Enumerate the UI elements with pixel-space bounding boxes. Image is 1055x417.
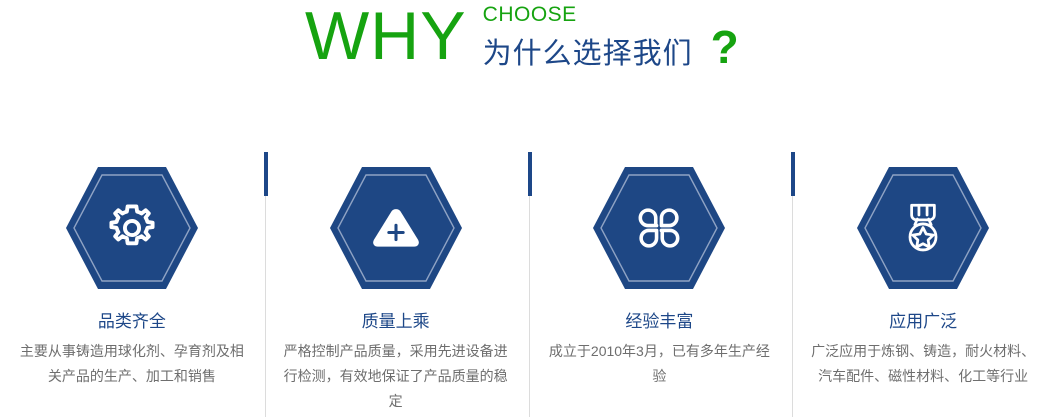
hex-badge-2 [328,165,464,291]
card-title: 品类齐全 [98,311,166,333]
hex-badge-4 [855,165,991,291]
triangle-plus-icon [328,165,464,291]
card-title: 应用广泛 [889,311,957,333]
card-description: 主要从事铸造用球化剂、孕育剂及相关产品的生产、加工和销售 [19,339,244,389]
divider-grey-segment [529,196,530,417]
card-description: 严格控制产品质量，采用先进设备进行检测，有效地保证了产品质量的稳定 [283,339,508,414]
header-subtitle-cn: 为什么选择我们 [483,36,693,72]
divider-grey-segment [265,196,266,417]
feature-card-2: 质量上乘 严格控制产品质量，采用先进设备进行检测，有效地保证了产品质量的稳定 [264,140,528,416]
header-choose-word: CHOOSE [483,3,739,27]
column-divider [528,152,532,417]
section-header: WHY CHOOSE 为什么选择我们 ? [0,0,1055,95]
divider-grey-segment [792,196,793,417]
card-description: 成立于2010年3月，已有多年生产经验 [547,339,772,389]
header-text-stack: CHOOSE 为什么选择我们 ? [483,0,739,72]
feature-columns: 品类齐全 主要从事铸造用球化剂、孕育剂及相关产品的生产、加工和销售 [0,140,1055,416]
card-title: 质量上乘 [362,311,430,333]
header-subtitle-row: 为什么选择我们 ? [483,29,739,72]
divider-blue-segment [264,152,268,196]
header-title-group: WHY CHOOSE 为什么选择我们 ? [305,0,739,72]
feature-card-4: 应用广泛 广泛应用于炼钢、铸造，耐火材料、汽车配件、磁性材料、化工等行业 [791,140,1055,416]
divider-blue-segment [528,152,532,196]
gear-icon [64,165,200,291]
header-why-word: WHY [305,0,467,72]
header-question-mark: ? [711,29,739,65]
feature-card-3: 经验丰富 成立于2010年3月，已有多年生产经验 [528,140,792,416]
divider-blue-segment [791,152,795,196]
feature-card-1: 品类齐全 主要从事铸造用球化剂、孕育剂及相关产品的生产、加工和销售 [0,140,264,416]
card-title: 经验丰富 [625,311,693,333]
clover-icon [591,165,727,291]
column-divider [791,152,795,417]
hex-badge-3 [591,165,727,291]
hex-badge-1 [64,165,200,291]
card-description: 广泛应用于炼钢、铸造，耐火材料、汽车配件、磁性材料、化工等行业 [811,339,1036,389]
medal-star-icon [855,165,991,291]
column-divider [264,152,268,417]
